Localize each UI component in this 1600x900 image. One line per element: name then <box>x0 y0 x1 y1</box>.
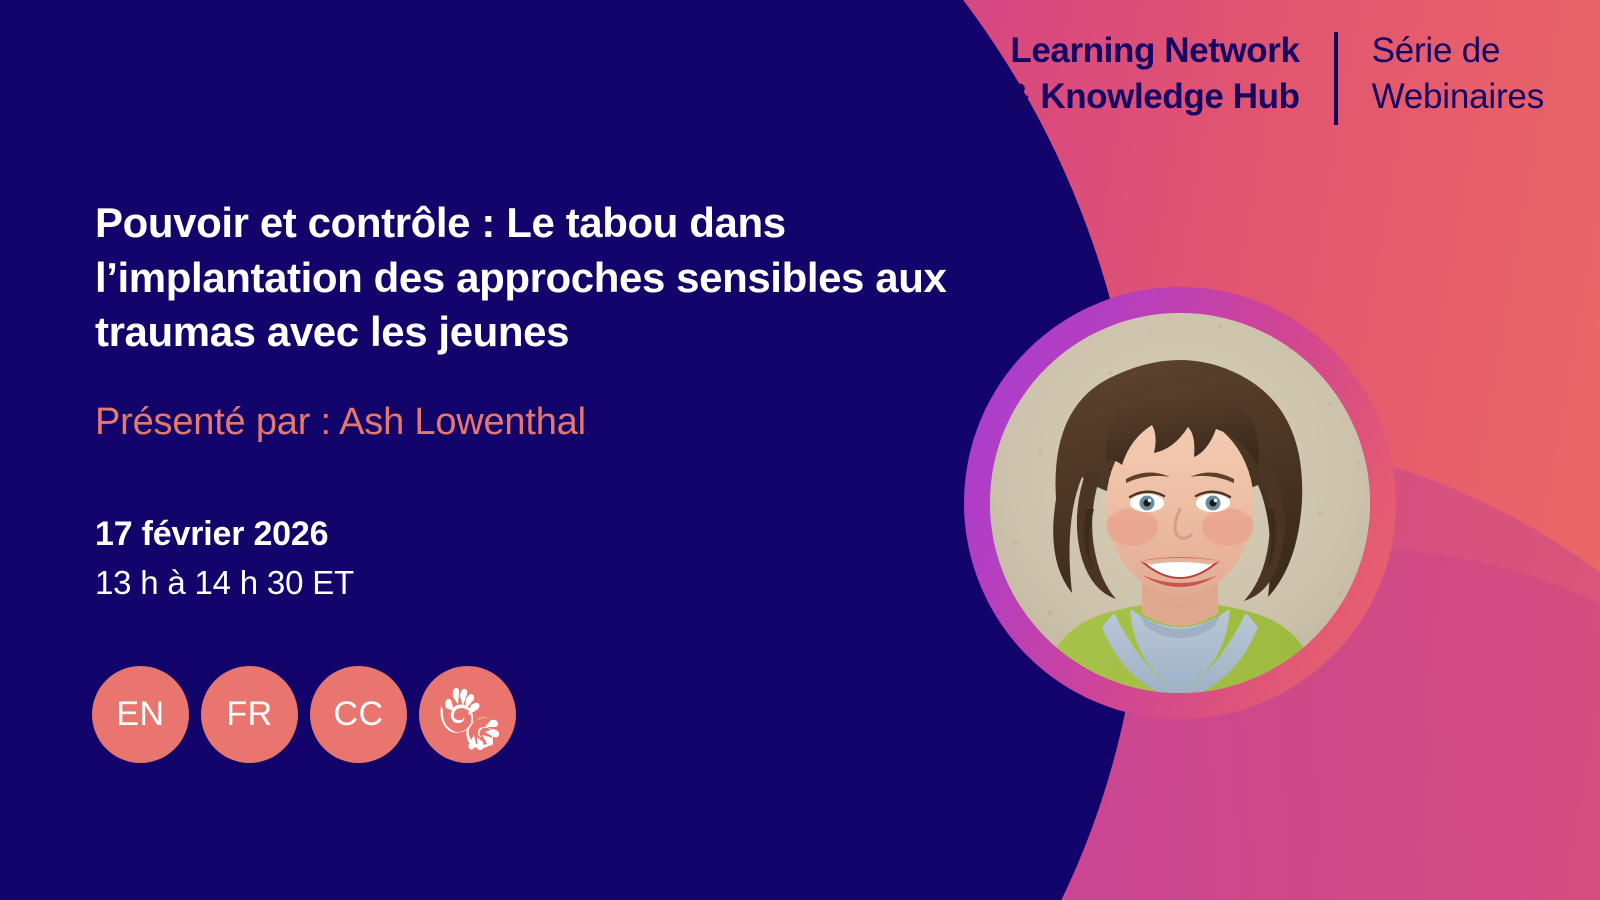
accessibility-badges: EN FR CC <box>92 666 516 763</box>
badge-en-label: EN <box>116 695 164 734</box>
header: Learning Network & Knowledge Hub Série d… <box>1006 28 1544 125</box>
presenter-line: Présenté par : Ash Lowenthal <box>95 401 995 444</box>
portrait-ring <box>964 287 1396 719</box>
sign-language-icon <box>433 680 503 750</box>
brand-title: Learning Network & Knowledge Hub <box>1006 28 1333 119</box>
badge-en[interactable]: EN <box>92 666 189 763</box>
webinar-title: Pouvoir et contrôle : Le tabou dans l’im… <box>95 196 995 360</box>
content-block: Pouvoir et contrôle : Le tabou dans l’im… <box>95 196 995 602</box>
badge-fr-label: FR <box>226 695 272 734</box>
badge-cc[interactable]: CC <box>310 666 407 763</box>
badge-cc-label: CC <box>333 695 383 734</box>
event-time: 13 h à 14 h 30 ET <box>95 564 995 602</box>
event-date: 17 février 2026 <box>95 515 995 554</box>
webinar-promo-card: Learning Network & Knowledge Hub Série d… <box>0 0 1600 900</box>
badge-fr[interactable]: FR <box>201 666 298 763</box>
series-label: Série de Webinaires <box>1338 28 1544 119</box>
badge-asl[interactable] <box>419 666 516 763</box>
avatar <box>990 313 1370 693</box>
